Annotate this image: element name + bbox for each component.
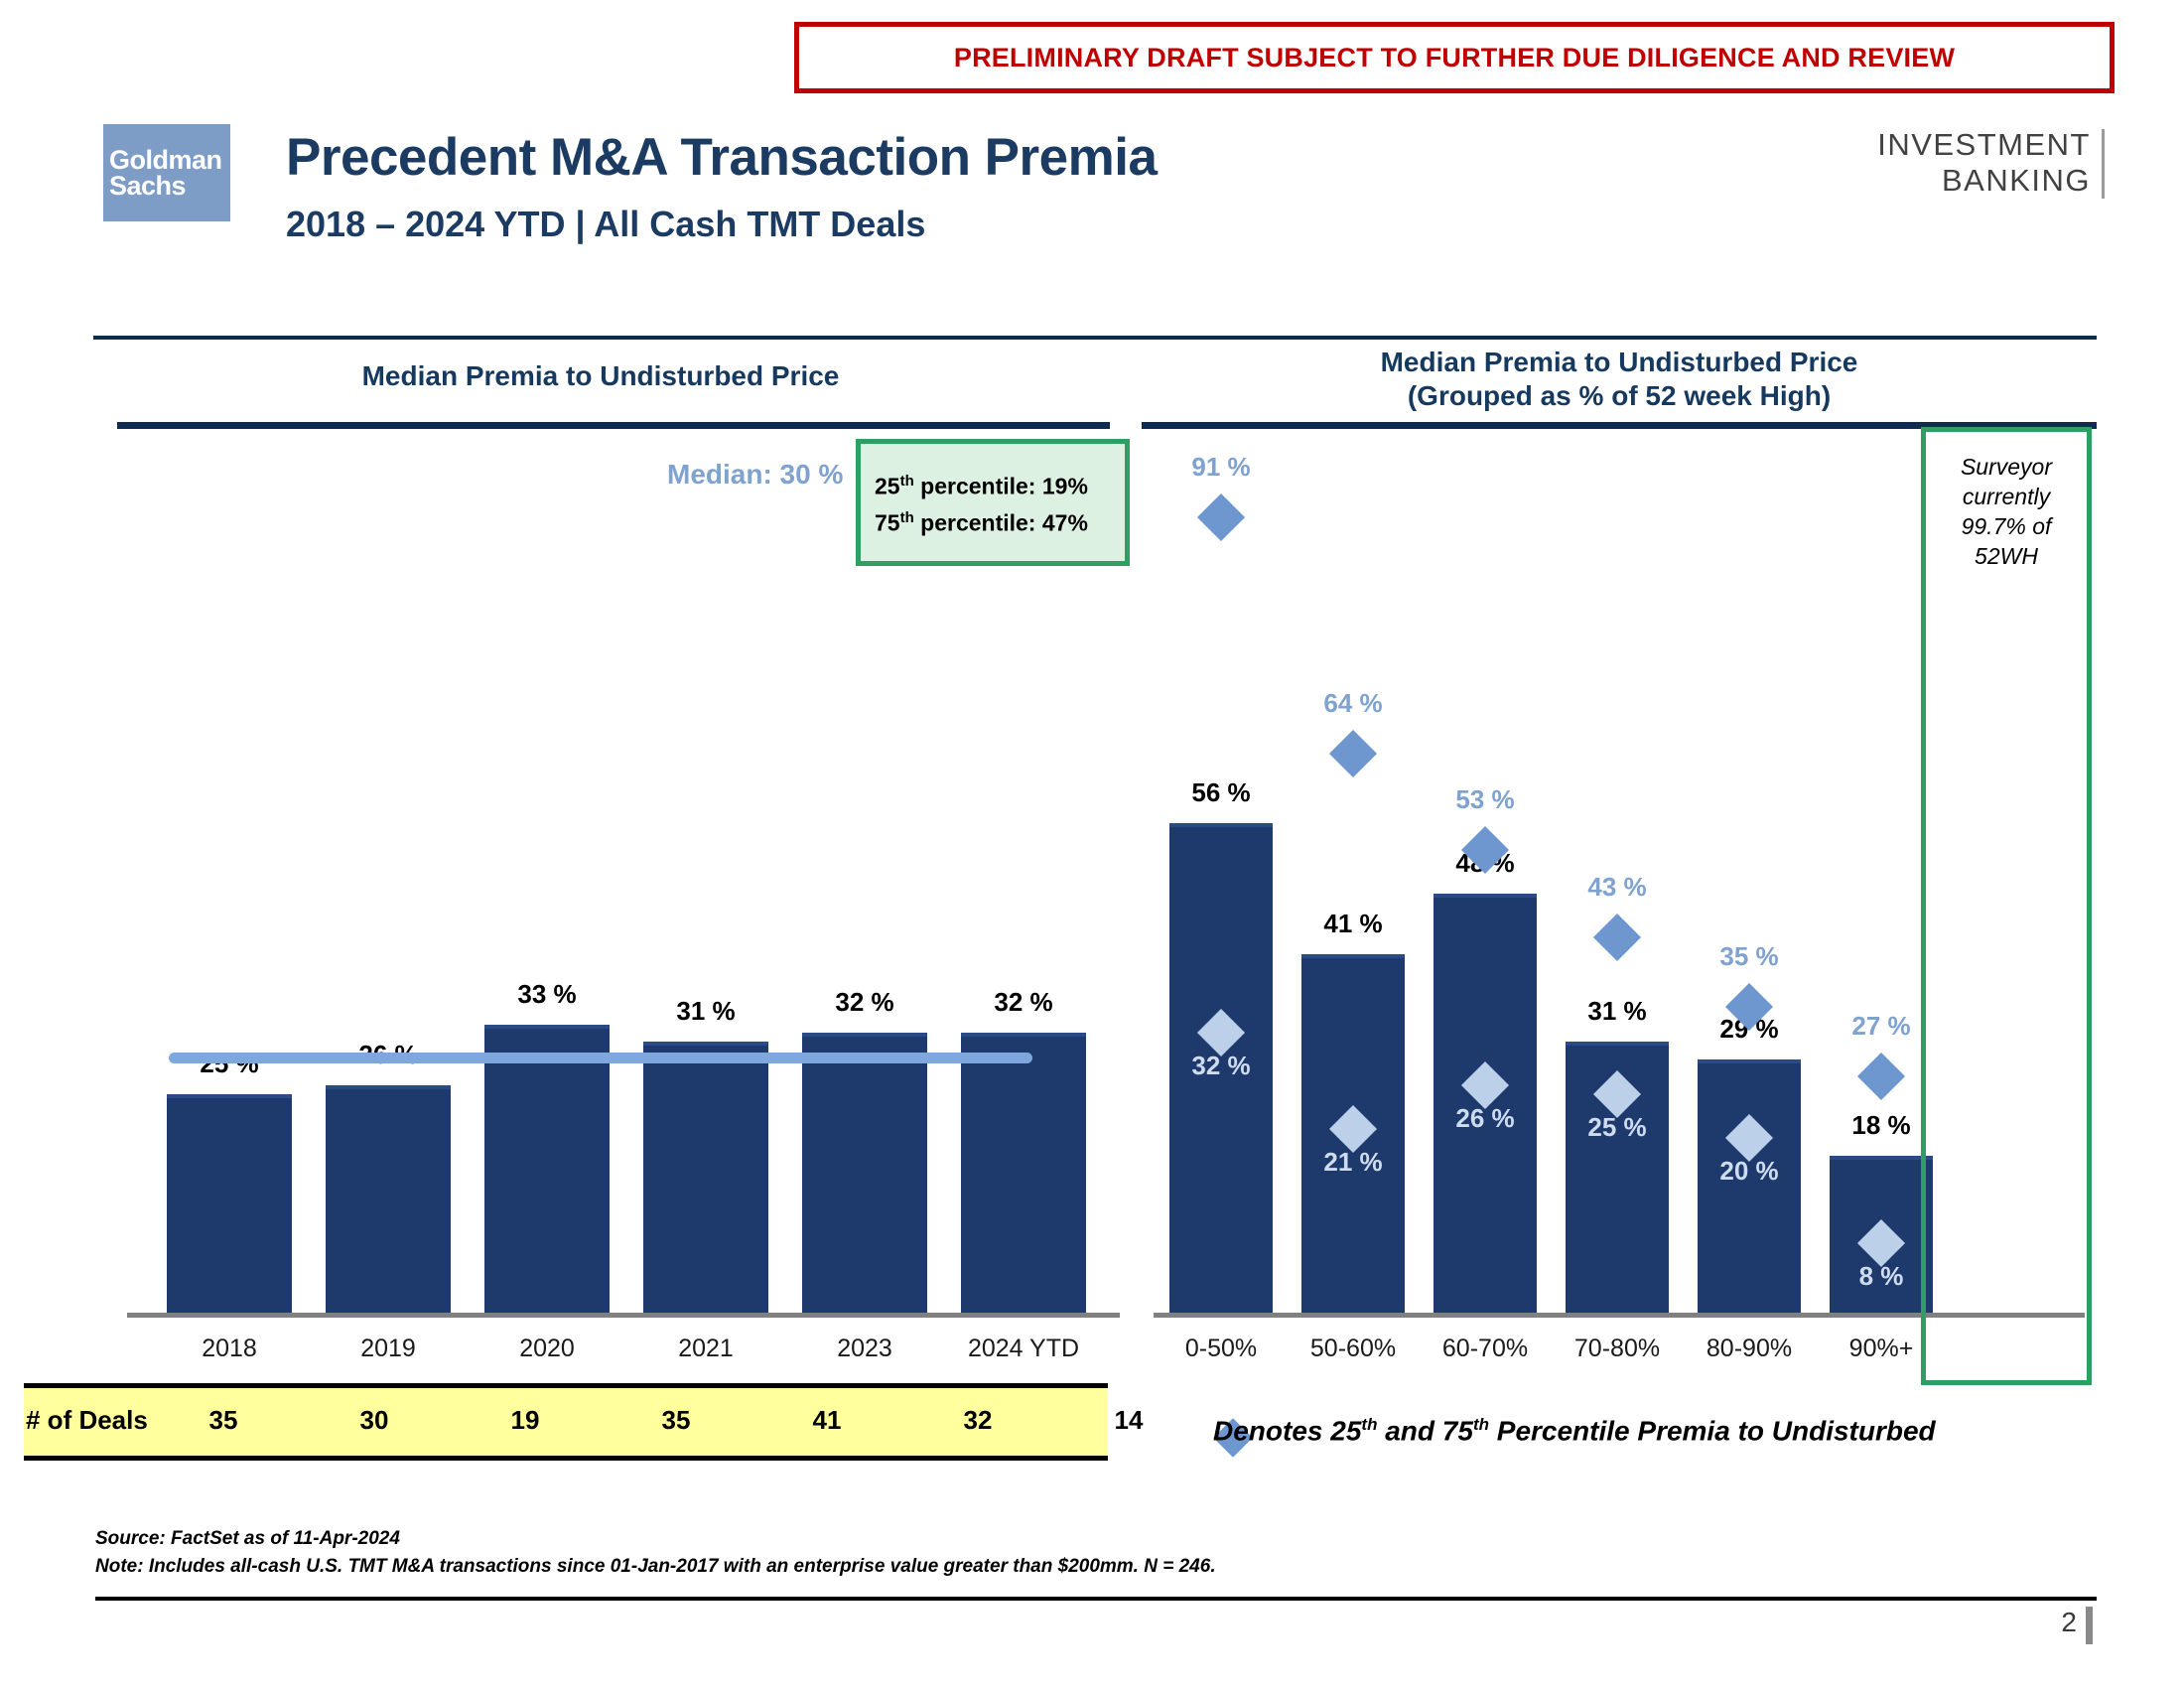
left-chart-rule bbox=[117, 422, 1110, 429]
p25-value-label: 20 % bbox=[1675, 1156, 1824, 1187]
deals-count-value: 19 bbox=[480, 1405, 570, 1436]
right-chart-title-line-1: Median Premia to Undisturbed Price bbox=[1142, 346, 2097, 379]
bar-top-highlight bbox=[1169, 823, 1273, 827]
investment-banking-mark: INVESTMENT BANKING bbox=[1877, 127, 2091, 199]
deals-count-value: 14 bbox=[1084, 1405, 1173, 1436]
ib-mark-rule bbox=[2102, 129, 2105, 199]
p75-diamond-icon bbox=[1197, 493, 1245, 541]
median-reference-line bbox=[169, 1053, 1032, 1063]
p75-value-label: 35 % bbox=[1675, 941, 1824, 972]
bar bbox=[326, 1085, 451, 1313]
bar bbox=[484, 1025, 610, 1313]
logo-line-2: Sachs bbox=[109, 173, 230, 199]
right-chart-title: Median Premia to Undisturbed Price (Grou… bbox=[1142, 346, 2097, 413]
right-chart-title-line-2: (Grouped as % of 52 week High) bbox=[1142, 379, 2097, 413]
bar-top-highlight bbox=[643, 1042, 768, 1046]
bar-top-highlight bbox=[802, 1033, 927, 1037]
p25-value-label: 32 % bbox=[1147, 1051, 1296, 1081]
bar-value-label: 31 % bbox=[614, 996, 798, 1027]
deals-count-value: 30 bbox=[330, 1405, 419, 1436]
p25-value-label: 25 % bbox=[1543, 1112, 1692, 1143]
percentile-callout-box: 25th percentile: 19% 75th percentile: 47… bbox=[856, 439, 1130, 566]
p75-line: 75th percentile: 47% bbox=[875, 502, 1125, 539]
bar-top-highlight bbox=[1301, 954, 1405, 958]
deals-count-value: 35 bbox=[631, 1405, 721, 1436]
bar bbox=[643, 1042, 768, 1313]
p75-diamond-icon bbox=[1857, 1053, 1905, 1100]
bar-top-highlight bbox=[961, 1033, 1086, 1037]
methodology-note: Note: Includes all-cash U.S. TMT M&A tra… bbox=[95, 1553, 1216, 1581]
p75-diamond-icon bbox=[1593, 914, 1641, 961]
left-chart-title: Median Premia to Undisturbed Price bbox=[93, 359, 1108, 393]
page-title: Precedent M&A Transaction Premia bbox=[286, 127, 1157, 188]
p75-value-label: 91 % bbox=[1147, 452, 1296, 483]
p75-value-label: 43 % bbox=[1543, 872, 1692, 903]
bar-value-label: 56 % bbox=[1130, 777, 1312, 808]
bar-value-label: 33 % bbox=[455, 979, 639, 1010]
left-chart-axis bbox=[127, 1313, 1120, 1318]
bar-value-label: 41 % bbox=[1262, 909, 1444, 939]
bar bbox=[167, 1094, 292, 1313]
x-axis-tick-label: 2024 YTD bbox=[921, 1335, 1126, 1363]
draft-banner: PRELIMINARY DRAFT SUBJECT TO FURTHER DUE… bbox=[794, 22, 2115, 93]
slide-root: PRELIMINARY DRAFT SUBJECT TO FURTHER DUE… bbox=[0, 0, 2184, 1688]
draft-banner-text: PRELIMINARY DRAFT SUBJECT TO FURTHER DUE… bbox=[954, 43, 1955, 73]
logo-line-1: Goldman bbox=[109, 147, 230, 173]
bar-top-highlight bbox=[1433, 894, 1537, 898]
p25-value-label: 21 % bbox=[1279, 1147, 1428, 1178]
footer-divider bbox=[95, 1597, 2097, 1601]
source-note: Source: FactSet as of 11-Apr-2024 bbox=[95, 1525, 1216, 1553]
ib-mark-line-1: INVESTMENT bbox=[1877, 127, 2091, 163]
bar-top-highlight bbox=[1830, 1156, 1933, 1160]
bar-value-label: 32 % bbox=[931, 987, 1116, 1018]
page-number-rule bbox=[2086, 1607, 2093, 1644]
deals-count-value: 41 bbox=[782, 1405, 872, 1436]
bar bbox=[961, 1033, 1086, 1313]
bar-top-highlight bbox=[484, 1025, 610, 1029]
p75-diamond-icon bbox=[1329, 730, 1377, 777]
bar bbox=[802, 1033, 927, 1313]
page-number: 2 bbox=[2061, 1607, 2077, 1638]
footnotes: Source: FactSet as of 11-Apr-2024 Note: … bbox=[95, 1525, 1216, 1581]
p25-line: 25th percentile: 19% bbox=[875, 466, 1125, 502]
p75-value-label: 53 % bbox=[1411, 784, 1560, 815]
deals-count-value: 35 bbox=[179, 1405, 268, 1436]
deals-row-label: # of Deals bbox=[26, 1405, 148, 1436]
bar-top-highlight bbox=[167, 1094, 292, 1098]
deals-count-value: 32 bbox=[933, 1405, 1023, 1436]
bar-top-highlight bbox=[1698, 1059, 1801, 1063]
p75-value-label: 64 % bbox=[1279, 688, 1428, 719]
page-subtitle: 2018 – 2024 YTD | All Cash TMT Deals bbox=[286, 204, 925, 245]
header-divider bbox=[93, 336, 2097, 340]
surveyor-note: Surveyor currently 99.7% of 52WH bbox=[1931, 452, 2082, 571]
ib-mark-line-2: BANKING bbox=[1877, 163, 2091, 199]
p25-value-label: 26 % bbox=[1411, 1103, 1560, 1134]
bar-value-label: 32 % bbox=[772, 987, 957, 1018]
median-callout-label: Median: 30 % bbox=[667, 459, 843, 491]
bar-top-highlight bbox=[1566, 1042, 1669, 1046]
bar-top-highlight bbox=[326, 1085, 451, 1089]
goldman-sachs-logo: Goldman Sachs bbox=[103, 124, 230, 221]
chart-legend: Denotes 25th and 75th Percentile Premia … bbox=[1213, 1415, 1936, 1447]
